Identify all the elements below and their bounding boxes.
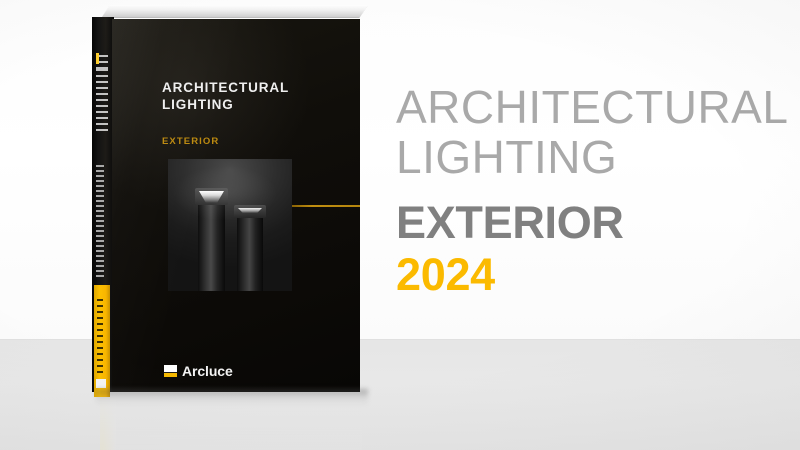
headline-category: EXTERIOR bbox=[396, 196, 776, 250]
book-front-cover: ARCHITECTURAL LIGHTING EXTERIOR Arcluce bbox=[112, 19, 360, 392]
cover-title-line-2: LIGHTING bbox=[162, 96, 289, 113]
spine-text-middle bbox=[96, 165, 108, 277]
cover-title-line-1: ARCHITECTURAL bbox=[162, 79, 289, 96]
cover-brand-logo: Arcluce bbox=[164, 363, 233, 379]
headline-line-2: LIGHTING bbox=[396, 132, 776, 182]
catalogue-book: ARCHITECTURAL LIGHTING EXTERIOR Arcluce bbox=[92, 14, 360, 392]
book-top-page-edge bbox=[102, 5, 368, 17]
photo-light-glow bbox=[168, 159, 292, 291]
headline-year: 2024 bbox=[396, 250, 776, 300]
reflection-surface: Arcluce bbox=[100, 393, 362, 450]
book-spine bbox=[92, 17, 114, 392]
brand-name: Arcluce bbox=[182, 363, 233, 379]
spine-text-lower bbox=[97, 299, 106, 373]
cover-accent-rule bbox=[292, 205, 360, 207]
book-floor-reflection: Arcluce bbox=[100, 393, 362, 450]
catalogue-cover-banner: ARCHITECTURAL LIGHTING EXTERIOR Arcluce bbox=[0, 0, 800, 450]
arcluce-mark-icon bbox=[164, 365, 177, 377]
spine-text-upper bbox=[96, 53, 108, 131]
cover-product-photo bbox=[168, 159, 292, 291]
cover-subtitle: EXTERIOR bbox=[162, 136, 219, 147]
spine-bottom-tab bbox=[96, 379, 106, 388]
headline-block: ARCHITECTURAL LIGHTING EXTERIOR 2024 bbox=[396, 82, 776, 300]
reflection-spine bbox=[100, 393, 116, 450]
cover-title: ARCHITECTURAL LIGHTING bbox=[162, 79, 289, 113]
headline-line-1: ARCHITECTURAL bbox=[396, 82, 776, 132]
